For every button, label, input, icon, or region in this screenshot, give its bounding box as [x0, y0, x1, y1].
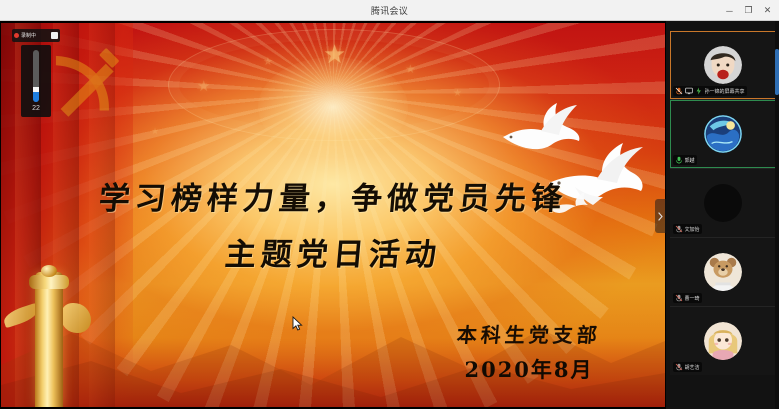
- participant-status-bar: 胡艺洁: [673, 362, 702, 372]
- participant-status-bar: 孙一锦的屏幕共享: [673, 86, 747, 96]
- mountain-silhouette-icon: [1, 289, 665, 407]
- participant-tile[interactable]: 曹一琦: [670, 238, 776, 306]
- star-icon: ★: [405, 63, 416, 75]
- presentation-slide: ★ ★ ★ ★ ★ ★: [1, 23, 665, 407]
- collapse-sidebar-handle[interactable]: [655, 199, 666, 233]
- gold-column-icon: [61, 303, 91, 333]
- gold-column-icon: [2, 303, 41, 328]
- avatar: [704, 253, 742, 291]
- avatar: [704, 46, 742, 84]
- shared-screen-stage[interactable]: ★ ★ ★ ★ ★ ★: [0, 21, 666, 409]
- recording-status-label: 录制中: [21, 32, 49, 39]
- participant-name: 曹一琦: [685, 295, 700, 302]
- slide-title-line-1: 学习榜样力量，争做党员先锋: [1, 171, 665, 227]
- mic-muted-icon: [675, 87, 683, 95]
- participant-tile[interactable]: 郭越: [670, 100, 776, 168]
- avatar: [704, 115, 742, 153]
- participant-name: 郭越: [685, 157, 695, 164]
- window-title: 腾讯会议: [371, 4, 408, 17]
- participant-status-bar: 曹一琦: [673, 293, 702, 303]
- participant-status-bar: 文加怡: [673, 224, 702, 234]
- participant-name: 孙一锦的屏幕共享: [705, 88, 745, 95]
- participant-tile[interactable]: 孙一锦的屏幕共享: [670, 31, 776, 99]
- volume-slider-panel[interactable]: 22: [21, 45, 51, 117]
- chevron-right-icon: [658, 212, 663, 221]
- title-bar: 腾讯会议 ─ ❐ ✕: [0, 0, 779, 21]
- recording-status-bar[interactable]: 录制中: [12, 29, 60, 42]
- tencent-meeting-window: 腾讯会议 ─ ❐ ✕ ★ ★ ★ ★ ★ ★: [0, 0, 779, 409]
- stop-recording-icon[interactable]: [51, 32, 58, 39]
- participant-scrollbar[interactable]: [775, 21, 779, 409]
- recording-dot-icon: [14, 33, 19, 38]
- slide-title-line-2: 主题党日活动: [1, 227, 665, 283]
- participant-scrollbar-thumb[interactable]: [775, 49, 779, 95]
- star-icon: ★: [151, 127, 159, 136]
- close-button[interactable]: ✕: [758, 1, 777, 20]
- share-active-icon: [695, 87, 703, 95]
- gold-column-icon: [35, 272, 63, 407]
- slide-title-block: 学习榜样力量，争做党员先锋 主题党日活动: [1, 171, 665, 283]
- avatar: [704, 184, 742, 222]
- mic-muted-icon: [675, 363, 683, 371]
- window-controls: ─ ❐ ✕: [720, 0, 777, 21]
- star-icon: ★: [453, 89, 462, 99]
- star-icon: ★: [263, 57, 273, 68]
- volume-slider-track[interactable]: [33, 50, 39, 102]
- gold-column-icon: [29, 275, 69, 289]
- participant-status-bar: 郭越: [673, 155, 697, 165]
- participant-name: 文加怡: [685, 226, 700, 233]
- participant-tile[interactable]: 文加怡: [670, 169, 776, 237]
- slide-organization: 本科生党支部: [456, 319, 603, 348]
- light-rays-decoration: [1, 23, 665, 407]
- volume-value-label: 22: [32, 105, 40, 112]
- mic-on-icon: [675, 156, 683, 164]
- center-glow-decoration: [258, 57, 408, 157]
- emblem-ring-decoration: [168, 29, 500, 141]
- dove-icon: [547, 191, 589, 217]
- curtain-fold-decoration: [89, 23, 115, 407]
- avatar: [704, 322, 742, 360]
- participant-name: 胡艺洁: [685, 364, 700, 371]
- star-icon: ★: [197, 79, 210, 94]
- slide-signature-block: 本科生党支部 2020年8月: [457, 319, 601, 384]
- dove-icon: [497, 97, 583, 155]
- slide-date: 2020年8月: [457, 354, 601, 384]
- gold-column-icon: [41, 265, 57, 277]
- recording-widget[interactable]: 录制中 22: [12, 29, 64, 117]
- maximize-button[interactable]: ❐: [739, 1, 758, 20]
- screen-share-icon: [685, 87, 693, 95]
- dove-icon: [541, 135, 647, 207]
- volume-slider-knob[interactable]: [33, 87, 39, 92]
- minimize-button[interactable]: ─: [720, 1, 739, 20]
- mic-muted-icon: [675, 294, 683, 302]
- participant-tile[interactable]: 胡艺洁: [670, 307, 776, 375]
- meeting-body: ★ ★ ★ ★ ★ ★: [0, 21, 779, 409]
- participant-sidebar[interactable]: 孙一锦的屏幕共享: [666, 21, 779, 409]
- mic-muted-icon: [675, 225, 683, 233]
- volume-slider-fill: [33, 91, 39, 102]
- star-icon: ★: [323, 41, 346, 67]
